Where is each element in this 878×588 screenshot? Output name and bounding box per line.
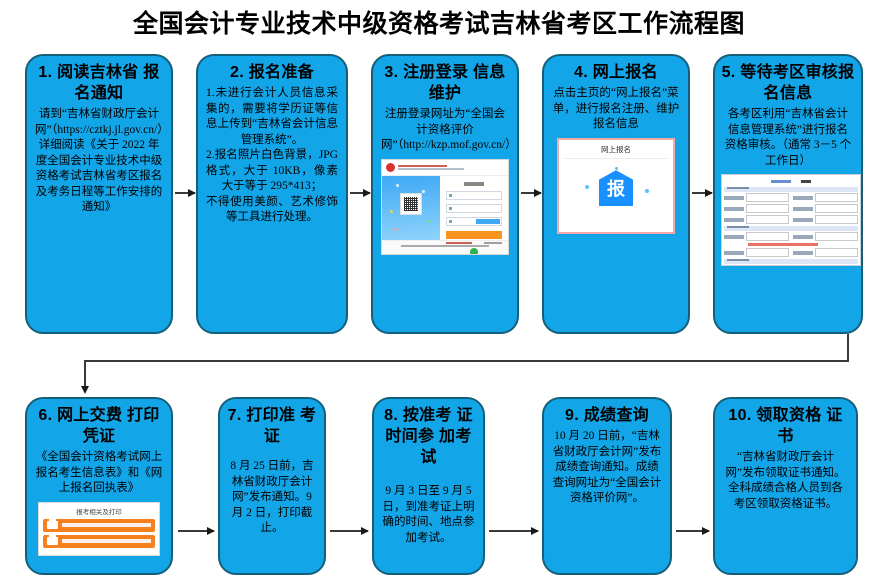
national-emblem-icon <box>386 163 395 172</box>
flow-node-6-title: 6. 网上交费 打印凭证 <box>33 405 165 447</box>
login-form-caption <box>464 182 484 186</box>
username-field-placeholder <box>446 191 502 200</box>
print-button-label <box>62 539 151 543</box>
connector-arrow-8-9 <box>489 530 538 532</box>
registration-shield-icon: 报 <box>599 170 633 206</box>
connector-arrow-9-10 <box>676 530 709 532</box>
flow-node-9-body: 10 月 20 日前，“吉林省财政厅会计网”发布成绩查询通知。成绩查询网址为“全… <box>550 429 664 507</box>
connector-5-6-horizontal <box>84 360 849 362</box>
captcha-field-placeholder <box>446 217 502 226</box>
flow-node-7[interactable]: 7. 打印准 考证 8 月 25 日前，吉林省财政厅会计网”发布通知。9 月 2… <box>218 397 326 575</box>
form-row <box>724 193 858 202</box>
card-title: 网上报名 <box>563 144 669 159</box>
page-title: 全国会计专业技术中级资格考试吉林省考区工作流程图 <box>0 0 878 42</box>
flow-node-2-body: 1.未进行会计人员信息采集的，需要将学历证等信息上传到“吉林省会计信息管理系统”… <box>204 86 340 226</box>
flow-node-8-title: 8. 按准考 证时间参 加考试 <box>380 405 477 468</box>
form-row <box>724 265 858 266</box>
printer-icon <box>47 537 58 545</box>
login-page-thumbnail <box>381 159 509 255</box>
card-body: 报 <box>563 159 669 221</box>
login-links-placeholder <box>446 242 502 244</box>
flow-node-3-body: 注册登录网址为“全国会计资格评价网”（http://kzp.mof.gov.cn… <box>379 107 511 154</box>
thumbnail-main <box>382 176 508 240</box>
flow-node-5[interactable]: 5. 等待考区审核报名信息 各考区利用“吉林省会计信息管理系统”进行报名资格审核… <box>713 54 863 334</box>
printer-icon <box>47 521 58 529</box>
form-row <box>724 232 858 241</box>
flow-node-10-body: “吉林省财政厅会计网”发布领取证书通知。全科成绩合格人员到各考区领取资格证书。 <box>721 450 850 512</box>
connector-5-6-vertical-right <box>847 334 849 362</box>
flow-node-8-body: 9 月 3 日至 9 月 5 日，到准考证上明确的时间、地点参加考试。 <box>380 484 477 546</box>
flow-node-9-title: 9. 成绩查询 <box>550 405 664 426</box>
wechat-icon <box>470 248 478 255</box>
connector-arrow-6-7 <box>178 530 214 532</box>
thumbnail-header <box>382 160 508 176</box>
online-registration-card-thumbnail: 网上报名 报 <box>557 138 675 234</box>
connector-arrow-4-5 <box>692 192 712 194</box>
flow-node-3-title: 3. 注册登录 信息维护 <box>379 62 511 104</box>
print-receipt-button[interactable] <box>43 535 155 548</box>
flow-node-10-title: 10. 领取资格 证书 <box>721 405 850 447</box>
login-button-placeholder <box>446 231 502 239</box>
form-section-header <box>724 259 858 264</box>
flow-node-4-body: 点击主页的“网上报名”菜单，进行报名注册、维护报名信息 <box>550 86 682 133</box>
connector-arrow-2-3 <box>350 192 370 194</box>
password-field-placeholder <box>446 204 502 213</box>
connector-arrow-3-4 <box>521 192 541 194</box>
flow-node-1-title: 1. 阅读吉林省 报名通知 <box>33 62 165 104</box>
form-section-header <box>724 187 858 192</box>
flow-node-6-body: 《全国会计资格考试网上报名考生信息表》和《网上报名回执表》 <box>33 450 165 497</box>
connector-5-6-arrowhead <box>81 386 89 394</box>
flow-node-2-title: 2. 报名准备 <box>204 62 340 83</box>
form-toolbar <box>724 177 858 185</box>
form-validation-hint <box>748 243 818 246</box>
flowchart-canvas: 1. 阅读吉林省 报名通知 请到“吉林省财政厅会计网”（https://cztk… <box>0 42 878 582</box>
login-form-panel <box>440 176 508 240</box>
flow-node-9[interactable]: 9. 成绩查询 10 月 20 日前，“吉林省财政厅会计网”发布成绩查询通知。成… <box>542 397 672 575</box>
print-voucher-thumbnail: 报考相关及打印 <box>38 502 160 556</box>
form-row <box>724 204 858 213</box>
flow-node-7-body: 8 月 25 日前，吉林省财政厅会计网”发布通知。9 月 2 日，打印截止。 <box>226 459 318 537</box>
flow-node-7-title: 7. 打印准 考证 <box>226 405 318 447</box>
flow-node-2[interactable]: 2. 报名准备 1.未进行会计人员信息采集的，需要将学历证等信息上传到“吉林省会… <box>196 54 348 334</box>
flow-node-3[interactable]: 3. 注册登录 信息维护 注册登录网址为“全国会计资格评价网”（http://k… <box>371 54 519 334</box>
form-section-header <box>724 226 858 231</box>
print-button-label <box>62 523 151 527</box>
flow-node-5-title: 5. 等待考区审核报名信息 <box>721 62 855 104</box>
flow-node-6[interactable]: 6. 网上交费 打印凭证 《全国会计资格考试网上报名考生信息表》和《网上报名回执… <box>25 397 173 575</box>
flow-node-4[interactable]: 4. 网上报名 点击主页的“网上报名”菜单，进行报名注册、维护报名信息 网上报名… <box>542 54 690 334</box>
flow-node-1-body: 请到“吉林省财政厅会计网”（https://cztkj.jl.gov.cn/）详… <box>33 107 165 216</box>
flow-node-8[interactable]: 8. 按准考 证时间参 加考试 9 月 3 日至 9 月 5 日，到准考证上明确… <box>372 397 485 575</box>
connector-5-6-vertical-left <box>84 360 86 388</box>
ministry-title-placeholder <box>398 165 504 170</box>
qr-panel <box>382 176 440 240</box>
flow-node-5-body: 各考区利用“吉林省会计信息管理系统”进行报名资格审核。（通常 3－5 个工作日） <box>721 107 855 169</box>
print-info-sheet-button[interactable] <box>43 519 155 532</box>
form-row <box>724 215 858 224</box>
flow-node-10[interactable]: 10. 领取资格 证书 “吉林省财政厅会计网”发布领取证书通知。全科成绩合格人员… <box>713 397 858 575</box>
form-row <box>724 248 858 257</box>
registration-form-thumbnail <box>721 174 861 266</box>
flow-node-4-title: 4. 网上报名 <box>550 62 682 83</box>
print-panel-title: 报考相关及打印 <box>43 506 155 516</box>
connector-arrow-7-8 <box>330 530 368 532</box>
flow-node-1[interactable]: 1. 阅读吉林省 报名通知 请到“吉林省财政厅会计网”（https://cztk… <box>25 54 173 334</box>
connector-arrow-1-2 <box>175 192 195 194</box>
qr-code-icon <box>400 193 422 215</box>
